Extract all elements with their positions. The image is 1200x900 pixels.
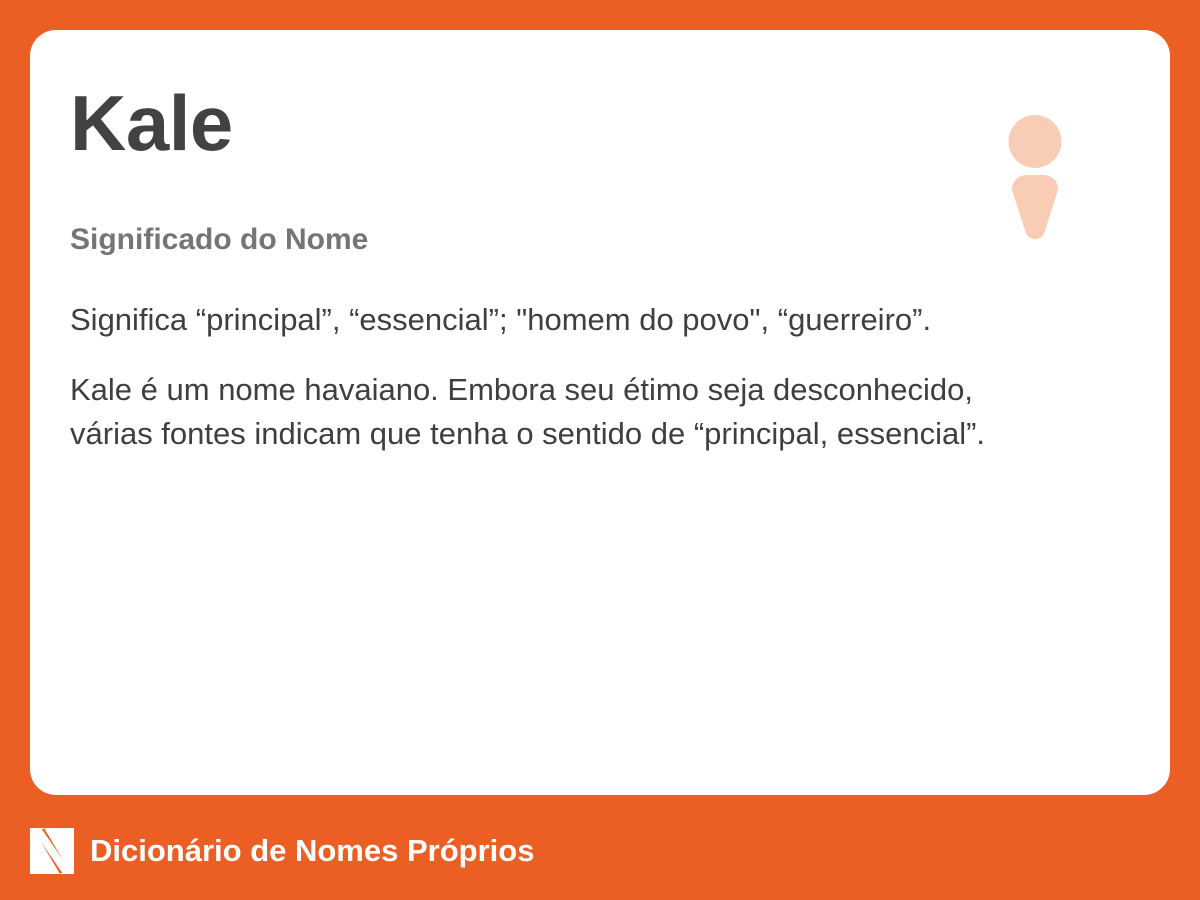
paragraph-meaning: Significa “principal”, “essencial”; "hom… [70, 298, 1050, 342]
site-branding-footer: Dicionário de Nomes Próprios [30, 820, 534, 882]
name-info-card: Kale Significado do Nome Significa “prin… [30, 30, 1170, 795]
dicionario-n-logo-icon [30, 828, 74, 874]
page-title: Kale [70, 84, 1100, 162]
meaning-description: Significa “principal”, “essencial”; "hom… [70, 298, 1050, 456]
section-subtitle: Significado do Nome [70, 222, 1100, 258]
paragraph-origin: Kale é um nome havaiano. Embora seu étim… [70, 368, 1050, 456]
footer-site-title: Dicionário de Nomes Próprios [90, 833, 534, 869]
card-content: Kale Significado do Nome Significa “prin… [70, 92, 1100, 795]
name-meaning-card-page: Kale Significado do Nome Significa “prin… [0, 0, 1200, 900]
